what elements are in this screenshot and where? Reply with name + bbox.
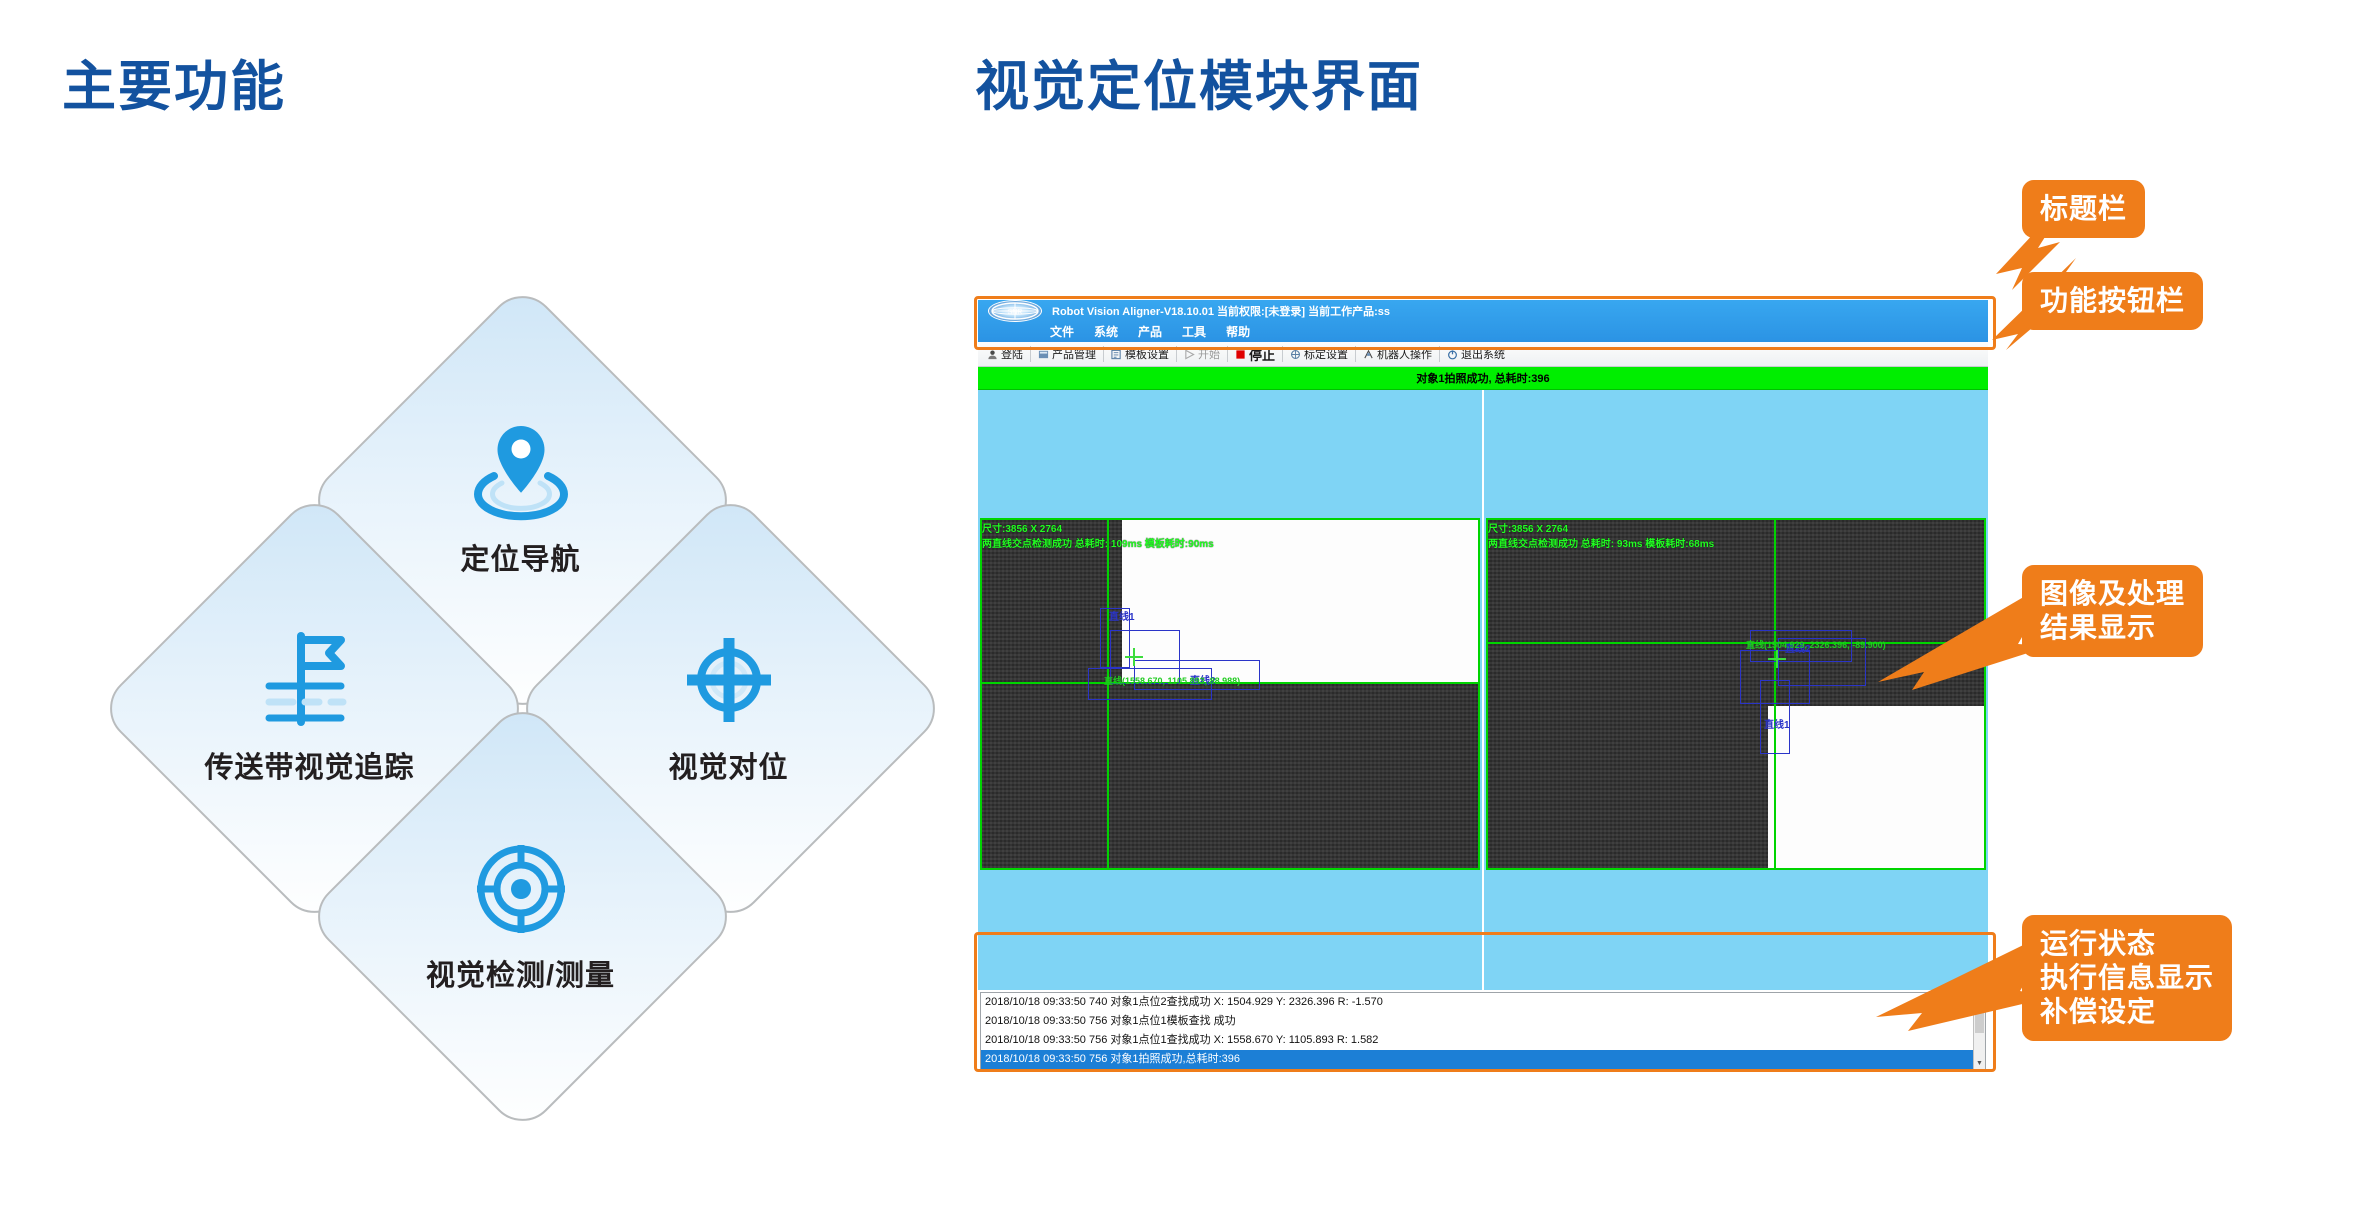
toolbar-button-calibration-setting[interactable]: 标定设置: [1285, 345, 1353, 363]
power-icon: [1447, 349, 1458, 360]
log-list[interactable]: 2018/10/18 09:33:50 740 对象1点位2查找成功 X: 15…: [980, 992, 1986, 1070]
chevron-down-icon[interactable]: ▼: [1976, 1060, 1983, 1067]
viewport-camera-1[interactable]: 直线1 直线2 直线(1558.670, 1105.893, 88.988) 尺…: [978, 390, 1484, 990]
log-row[interactable]: 2018/10/18 09:33:50 756 对象1点位1查找成功 X: 15…: [981, 1031, 1985, 1050]
page-title-right: 视觉定位模块界面: [975, 42, 1423, 121]
image-display-area: 直线1 直线2 直线(1558.670, 1105.893, 88.988) 尺…: [978, 390, 1988, 990]
toolbar-button-label: 产品管理: [1052, 346, 1096, 362]
template-icon: [1111, 349, 1122, 360]
log-row-selected[interactable]: 2018/10/18 09:33:50 756 对象1拍照成功,总耗时:396: [981, 1050, 1985, 1069]
toolbar-button-label: 机器人操作: [1377, 346, 1432, 362]
page-title-left: 主要功能: [62, 42, 286, 121]
toolbar-button-label: 标定设置: [1304, 346, 1348, 362]
camera-1-size-text: 尺寸:3856 X 2764: [982, 520, 1062, 535]
app-title-text: Robot Vision Aligner-V18.10.01 当前权限:[未登录…: [1052, 303, 1390, 319]
crosshair-icon: [669, 628, 789, 738]
toolbar-separator: [1355, 346, 1356, 362]
target-icon: [461, 836, 581, 946]
feature-diamond-cluster: 定位导航 传送带视觉追踪 视觉对位: [140, 330, 900, 1090]
viewport-camera-2[interactable]: 直线2 直线1 直线(1504.929, 2326.396, -89.900) …: [1484, 390, 1988, 990]
callout-run-status-info: 运行状态 执行信息显示 补偿设定: [2022, 915, 2232, 1041]
svg-text:SNR: SNR: [1008, 309, 1023, 316]
toolbar-button-exit-system[interactable]: 退出系统: [1442, 345, 1510, 363]
toolbar-button-label: 模板设置: [1125, 346, 1169, 362]
camera-2-result-text: 两直线交点检测成功 总耗时: 93ms 模板耗时:68ms: [1488, 535, 1714, 550]
log-row[interactable]: 2018/10/18 09:33:50 756 对象1点位1模板查找 成功: [981, 1012, 1985, 1031]
toolbar-separator: [1103, 346, 1104, 362]
callout-function-button-bar: 功能按钮栏: [2022, 272, 2203, 330]
menu-item-tools[interactable]: 工具: [1182, 323, 1206, 340]
menu-item-system[interactable]: 系统: [1094, 323, 1118, 340]
feature-label: 视觉检测/测量: [426, 952, 615, 994]
play-icon: [1184, 349, 1195, 360]
toolbar-button-login[interactable]: 登陆: [982, 345, 1028, 363]
line-coord-text: 直线(1558.670, 1105.893, 88.988): [1104, 674, 1240, 687]
callout-title-bar: 标题栏: [2022, 180, 2145, 238]
toolbar-separator: [1439, 346, 1440, 362]
location-pin-icon: [461, 420, 581, 530]
app-menu-bar: 文件 系统 产品 工具 帮助: [982, 321, 1988, 341]
toolbar-button-product-manage[interactable]: 产品管理: [1033, 345, 1101, 363]
toolbar-button-robot-operation[interactable]: 机器人操作: [1358, 345, 1437, 363]
toolbar-separator: [1227, 346, 1228, 362]
menu-item-file[interactable]: 文件: [1050, 323, 1074, 340]
bright-region: [1768, 706, 1986, 868]
toolbar-separator: [1282, 346, 1283, 362]
toolbar-separator: [1030, 346, 1031, 362]
status-banner: 对象1拍照成功, 总耗时:396: [978, 367, 1988, 390]
toolbar-button-start[interactable]: 开始: [1179, 345, 1225, 363]
app-toolbar: 登陆 产品管理 模板设置 开始 停止: [978, 342, 1988, 367]
menu-item-help[interactable]: 帮助: [1226, 323, 1250, 340]
intersection-marker: [1125, 648, 1143, 666]
vision-aligner-application: SNR Robot Vision Aligner-V18.10.01 当前权限:…: [978, 300, 1988, 1070]
toolbar-button-stop[interactable]: 停止: [1230, 344, 1280, 365]
toolbar-separator: [1176, 346, 1177, 362]
app-logo-icon: SNR: [988, 300, 1042, 322]
camera-2-size-text: 尺寸:3856 X 2764: [1488, 520, 1568, 535]
line-label-1: 直线1: [1764, 716, 1790, 731]
camera-1-image-frame[interactable]: 直线1 直线2 直线(1558.670, 1105.893, 88.988): [980, 518, 1480, 870]
robot-icon: [1363, 349, 1374, 360]
toolbar-button-label: 退出系统: [1461, 346, 1505, 362]
stop-icon: [1235, 349, 1246, 360]
toolbar-button-template-setting[interactable]: 模板设置: [1106, 345, 1174, 363]
toolbar-button-label: 停止: [1249, 345, 1275, 364]
log-row[interactable]: 2018/10/18 09:33:50 740 对象1点位2查找成功 X: 15…: [981, 993, 1985, 1012]
toolbar-button-label: 开始: [1198, 346, 1220, 362]
callout-image-result-display: 图像及处理 结果显示: [2022, 565, 2203, 657]
login-icon: [987, 349, 998, 360]
feature-label: 视觉对位: [668, 744, 788, 786]
toolbar-button-label: 登陆: [1001, 346, 1023, 362]
flag-icon: [253, 628, 373, 738]
feature-label: 定位导航: [460, 536, 580, 578]
intersection-marker: [1768, 650, 1786, 668]
app-title-bar: SNR Robot Vision Aligner-V18.10.01 当前权限:…: [978, 300, 1988, 342]
feature-visual-inspection-measurement[interactable]: 视觉检测/测量: [368, 762, 673, 1067]
product-icon: [1038, 349, 1049, 360]
calibration-icon: [1290, 349, 1301, 360]
line-label-1: 直线1: [1109, 608, 1135, 623]
menu-item-product[interactable]: 产品: [1138, 323, 1162, 340]
slide-root: 主要功能 视觉定位模块界面 定位导航 传送带视: [0, 0, 2367, 1208]
camera-1-result-text: 两直线交点检测成功 总耗时: 109ms 模板耗时:90ms: [982, 535, 1214, 550]
